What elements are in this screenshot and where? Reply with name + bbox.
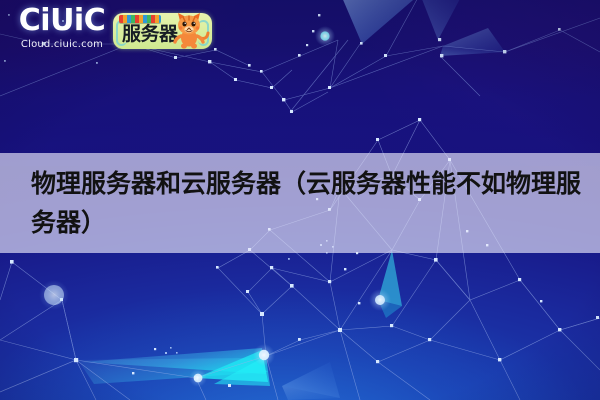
logo-domain-text: Cloud.ciuic.com [14, 39, 110, 51]
article-cover-banner: CiUiC Cloud.ciuic.com 服务器 [0, 0, 600, 400]
title-banner: 物理服务器和云服务器（云服务器性能不如物理服务器） [0, 153, 600, 253]
article-title: 物理服务器和云服务器（云服务器性能不如物理服务器） [31, 164, 582, 242]
header-row: CiUiC Cloud.ciuic.com 服务器 [0, 0, 600, 62]
cat-mascot-icon [169, 13, 211, 49]
logo-wordmark: CiUiC [14, 6, 110, 36]
site-logo[interactable]: CiUiC Cloud.ciuic.com [14, 6, 110, 51]
server-badge: 服务器 [113, 13, 212, 49]
